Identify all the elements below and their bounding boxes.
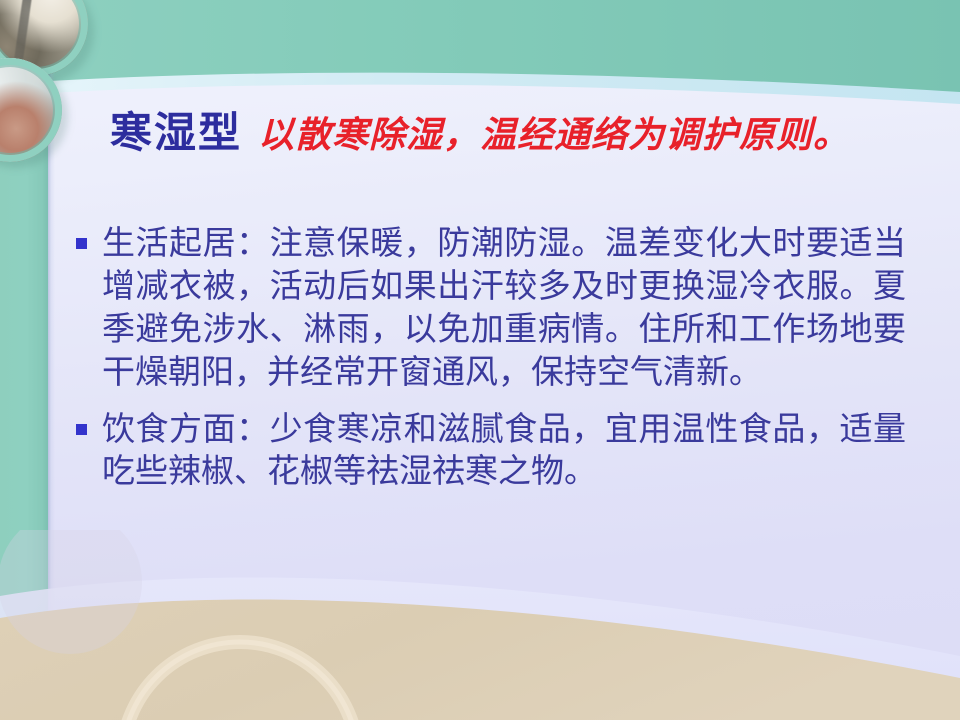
presentation-slide: 寒湿型 以散寒除湿，温经通络为调护原则。 生活起居：注意保暖，防潮防湿。温差变化… — [0, 0, 960, 720]
sand-arc — [122, 642, 358, 720]
square-bullet-icon — [76, 238, 87, 249]
square-bullet-icon — [76, 424, 87, 435]
header-bubble-right — [895, 0, 935, 20]
header-bubble-left — [816, 0, 864, 28]
bullet-text-lifestyle: 生活起居：注意保暖，防潮防湿。温差变化大时要适当增减衣被，活动后如果出汗较多及时… — [102, 222, 906, 394]
footer-decoration — [0, 530, 960, 720]
slide-body: 生活起居：注意保暖，防潮防湿。温差变化大时要适当增减衣被，活动后如果出汗较多及时… — [76, 222, 906, 507]
title-principle-text: 以散寒除湿，温经通络为调护原则。 — [258, 117, 850, 153]
title-main-text: 寒湿型 — [110, 112, 242, 154]
list-item: 饮食方面：少食寒凉和滋腻食品，宜用温性食品，适量吃些辣椒、花椒等祛湿祛寒之物。 — [76, 408, 906, 494]
list-item: 生活起居：注意保暖，防潮防湿。温差变化大时要适当增减衣被，活动后如果出汗较多及时… — [76, 222, 906, 394]
bullet-text-diet: 饮食方面：少食寒凉和滋腻食品，宜用温性食品，适量吃些辣椒、花椒等祛湿祛寒之物。 — [102, 408, 906, 494]
slide-title: 寒湿型 以散寒除湿，温经通络为调护原则。 — [0, 112, 960, 154]
header-band — [0, 0, 960, 112]
